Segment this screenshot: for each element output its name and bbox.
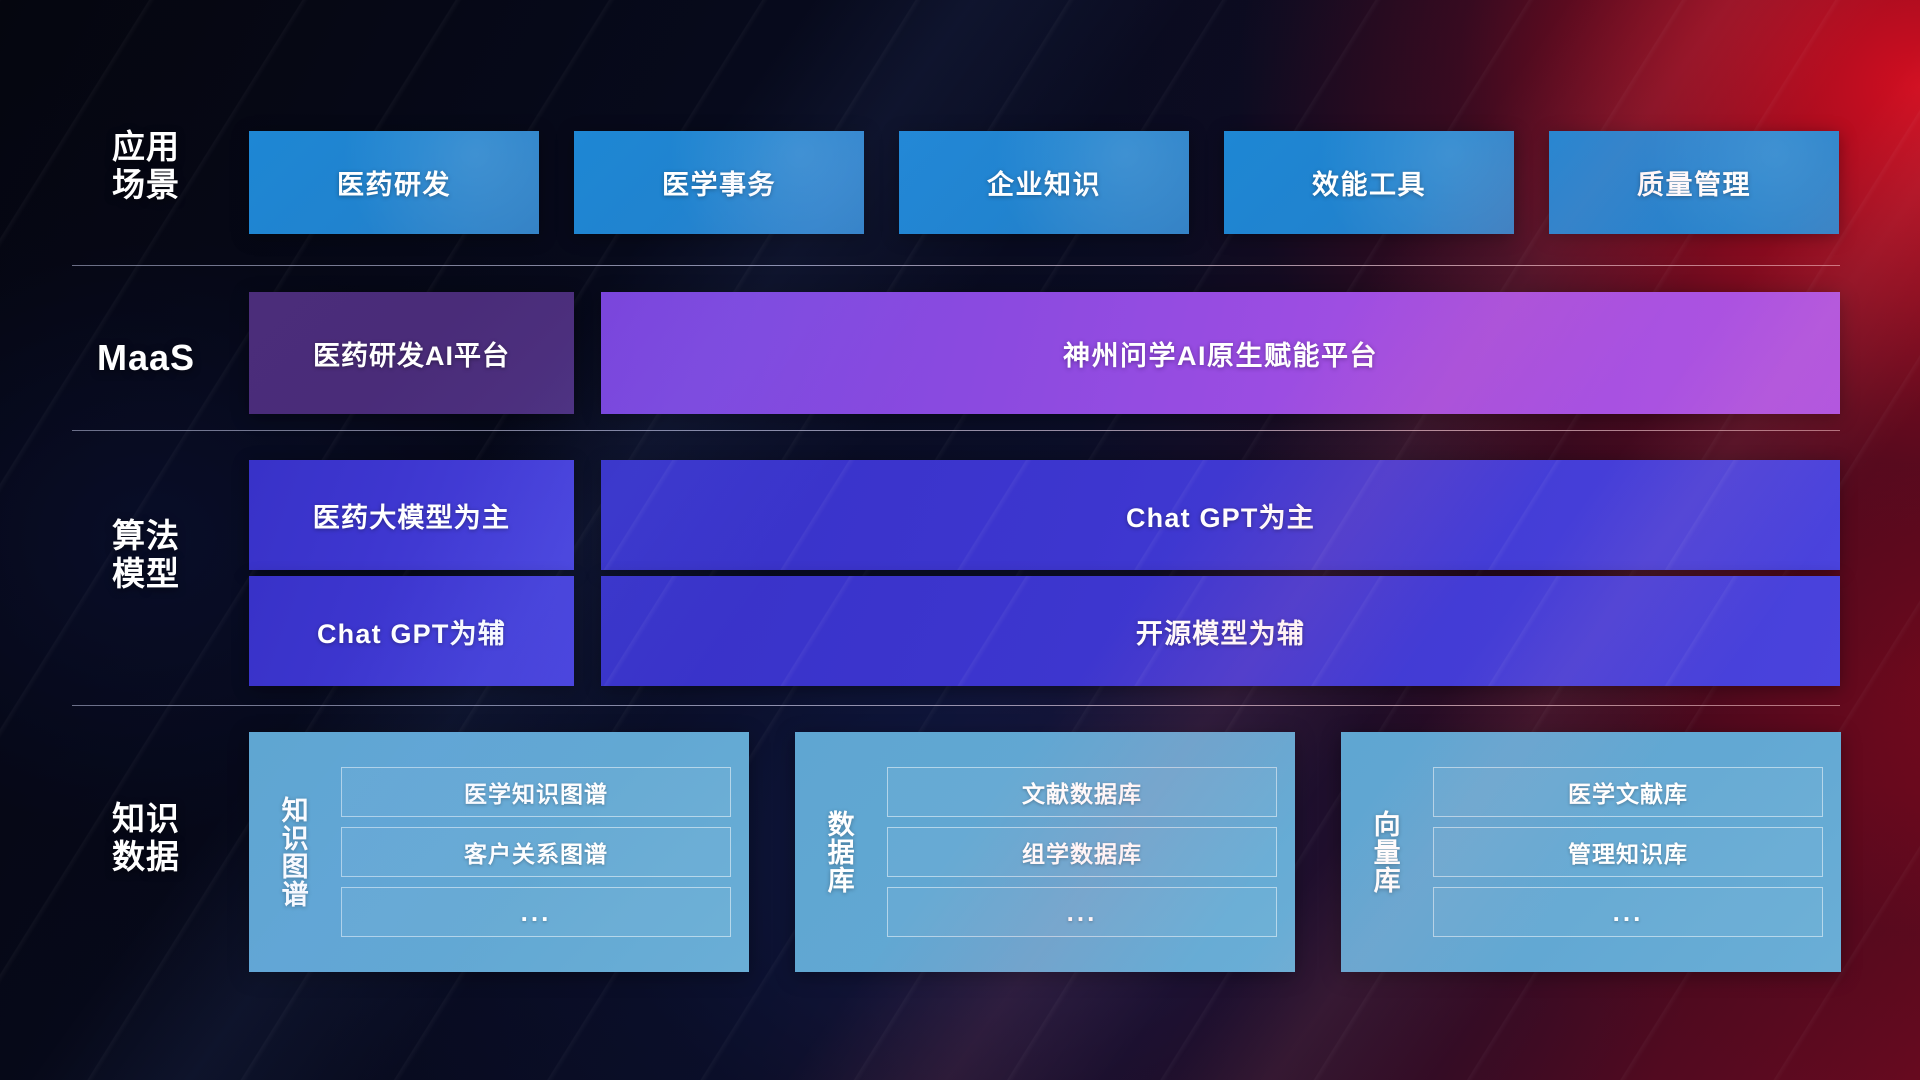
algo-cell-chatgpt-primary[interactable]: Chat GPT为主 (601, 460, 1840, 570)
knowledge-card-item-more[interactable]: ... (341, 887, 731, 937)
knowledge-card-item[interactable]: 医学文献库 (1433, 767, 1823, 817)
maas-platform-label: 医药研发AI平台 (313, 334, 510, 373)
divider-row1 (72, 265, 1840, 266)
algo-cell-label: 开源模型为辅 (1136, 612, 1305, 651)
algo-cell-label: 医药大模型为主 (313, 496, 510, 535)
row-label-knowledge-data: 知识 数据 (86, 800, 206, 877)
app-box-1[interactable]: 医学事务 (574, 131, 864, 234)
row-label-algorithm-models: 算法 模型 (86, 517, 206, 594)
divider-row2 (72, 430, 1840, 431)
algo-cell-pharma-primary[interactable]: 医药大模型为主 (249, 460, 574, 570)
app-box-2[interactable]: 企业知识 (899, 131, 1189, 234)
maas-platform-box[interactable]: 医药研发AI平台 (249, 292, 574, 414)
app-box-label: 医药研发 (337, 163, 451, 202)
divider-row3 (72, 705, 1840, 706)
knowledge-card-database[interactable]: 数据库 文献数据库 组学数据库 ... (795, 732, 1295, 972)
algo-cell-label: Chat GPT为辅 (317, 612, 506, 651)
app-box-label: 效能工具 (1312, 163, 1426, 202)
app-box-label: 质量管理 (1637, 163, 1751, 202)
app-box-3[interactable]: 效能工具 (1224, 131, 1514, 234)
knowledge-card-item[interactable]: 组学数据库 (887, 827, 1277, 877)
algo-cell-opensource-secondary[interactable]: 开源模型为辅 (601, 576, 1840, 686)
knowledge-card-item-more[interactable]: ... (1433, 887, 1823, 937)
row-label-maas: MaaS (76, 337, 216, 379)
knowledge-card-title: 向量库 (1341, 732, 1427, 972)
algo-cell-label: Chat GPT为主 (1126, 496, 1315, 535)
knowledge-card-item-more[interactable]: ... (887, 887, 1277, 937)
knowledge-card-item[interactable]: 管理知识库 (1433, 827, 1823, 877)
knowledge-card-title: 知识图谱 (249, 732, 335, 972)
knowledge-card-knowledge-graph[interactable]: 知识图谱 医学知识图谱 客户关系图谱 ... (249, 732, 749, 972)
knowledge-card-vector-store[interactable]: 向量库 医学文献库 管理知识库 ... (1341, 732, 1841, 972)
knowledge-card-item[interactable]: 文献数据库 (887, 767, 1277, 817)
knowledge-card-item[interactable]: 客户关系图谱 (341, 827, 731, 877)
app-box-label: 医学事务 (662, 163, 776, 202)
knowledge-card-item[interactable]: 医学知识图谱 (341, 767, 731, 817)
maas-enablement-platform-banner[interactable]: 神州问学AI原生赋能平台 (601, 292, 1840, 414)
architecture-diagram: 应用 场景 医药研发 医学事务 企业知识 效能工具 质量管理 MaaS 医药研发… (0, 0, 1920, 1080)
app-box-4[interactable]: 质量管理 (1549, 131, 1839, 234)
knowledge-card-title: 数据库 (795, 732, 881, 972)
row-label-application-scenarios: 应用 场景 (86, 128, 206, 205)
maas-enablement-platform-label: 神州问学AI原生赋能平台 (1063, 334, 1378, 373)
app-box-label: 企业知识 (987, 163, 1101, 202)
app-box-0[interactable]: 医药研发 (249, 131, 539, 234)
algo-cell-chatgpt-secondary[interactable]: Chat GPT为辅 (249, 576, 574, 686)
